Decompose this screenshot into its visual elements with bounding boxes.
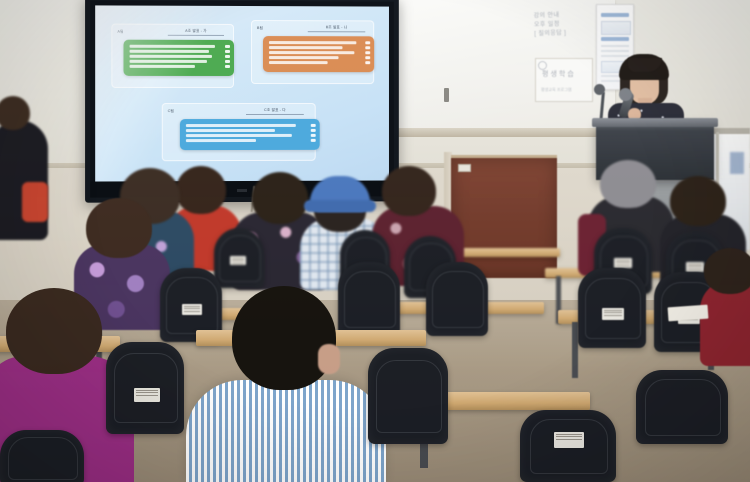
attendee-burgundy-head	[382, 166, 436, 216]
slide-card-c-header: C조 발표 - 다	[246, 108, 304, 115]
logo-text: 평생학습	[542, 69, 576, 79]
whiteboard-logo-sheet: 평생학습 평생교육 프로그램	[535, 58, 593, 102]
chair-front-1	[106, 342, 184, 434]
slide-screen: A팀 A조 발표 - 가 B팀 B조 발표 - 나	[95, 5, 389, 181]
blue-bucket-hat-brim	[304, 200, 376, 212]
slide-card-c-label: C팀	[168, 109, 174, 114]
gooseneck-mic-head	[594, 84, 605, 95]
slide-bubble-c	[180, 119, 320, 150]
attendee-blue-stripe-ear	[318, 344, 340, 374]
chair-label	[686, 262, 704, 272]
whiteboard-marker-tray	[372, 128, 617, 137]
chair-label	[134, 388, 160, 402]
chair-mid-3	[426, 262, 488, 336]
podium-top-surface	[592, 118, 718, 127]
chair-label	[182, 304, 202, 315]
slide-card-b-label: B팀	[257, 26, 263, 31]
microphone-head	[619, 88, 632, 101]
logo-subtext: 평생교육 프로그램	[541, 87, 572, 93]
standing-person-arm-accent	[22, 182, 48, 222]
slide-bubble-a	[123, 40, 234, 76]
classroom-door[interactable]	[451, 155, 557, 278]
display-power-led	[237, 189, 247, 192]
slide-card-b	[251, 20, 374, 84]
chair-back-1	[214, 228, 264, 288]
classroom-scene: 강의 안내 오후 일정 [ 질의응답 ] 평생학습 평생교육 프로그램 A팀 A…	[0, 0, 750, 482]
attendee-magenta-head	[6, 288, 102, 374]
attendee-dark-floral-head	[252, 172, 308, 224]
whiteboard-magnet	[444, 88, 449, 102]
chair-label	[602, 308, 624, 320]
chair-mid-right-1	[578, 268, 646, 348]
standing-person-head	[0, 96, 30, 130]
handout-paper-right	[668, 305, 709, 322]
slide-card-a	[111, 24, 234, 88]
chair-front-2	[368, 348, 448, 444]
chair-front-0	[0, 430, 84, 482]
chair-label	[554, 432, 584, 448]
slide-bubble-b	[263, 36, 374, 72]
slide-card-b-header: B조 발표 - 나	[308, 25, 365, 32]
attendee-blue-stripe-head	[232, 286, 336, 390]
door-sign	[458, 164, 471, 172]
chair-label	[614, 258, 632, 268]
attendee-right-red-head	[704, 248, 750, 294]
slide-card-a-label: A팀	[117, 30, 123, 35]
standing-person-body	[0, 120, 48, 240]
chair-mid-2	[338, 262, 400, 336]
attendee-grey-hair-head	[600, 160, 656, 208]
attendee-blue-stripe-torso	[186, 380, 386, 482]
slide-card-c	[162, 103, 316, 161]
attendee-red-head	[176, 166, 226, 214]
chair-front-3	[520, 410, 616, 482]
attendee-right-dark-head	[670, 176, 726, 226]
whiteboard-handwriting: 강의 안내 오후 일정 [ 질의응답 ]	[534, 11, 567, 39]
chair-front-4	[636, 370, 728, 444]
chair-label	[230, 256, 246, 265]
attendee-purple-floral-head	[86, 198, 152, 258]
slide-card-a-header: A조 발표 - 가	[168, 29, 224, 36]
window-panel	[730, 152, 744, 174]
